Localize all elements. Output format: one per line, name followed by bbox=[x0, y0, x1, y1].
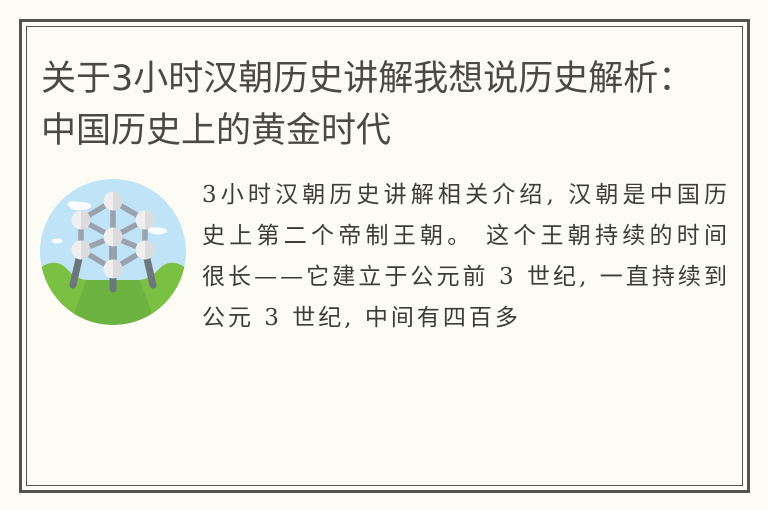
article-body-text: 3小时汉朝历史讲解相关介绍, 汉朝是中国历史上第二个帝制王朝。 这个王朝持续的时… bbox=[202, 175, 730, 339]
card-content: 关于3小时汉朝历史讲解我想说历史解析：中国历史上的黄金时代 bbox=[27, 27, 742, 485]
article-title: 关于3小时汉朝历史讲解我想说历史解析：中国历史上的黄金时代 bbox=[27, 27, 742, 157]
atomium-badge-icon bbox=[40, 179, 186, 325]
article-card: 关于3小时汉朝历史讲解我想说历史解析：中国历史上的黄金时代 bbox=[0, 0, 768, 510]
article-body-area: 3小时汉朝历史讲解相关介绍, 汉朝是中国历史上第二个帝制王朝。 这个王朝持续的时… bbox=[27, 179, 742, 479]
